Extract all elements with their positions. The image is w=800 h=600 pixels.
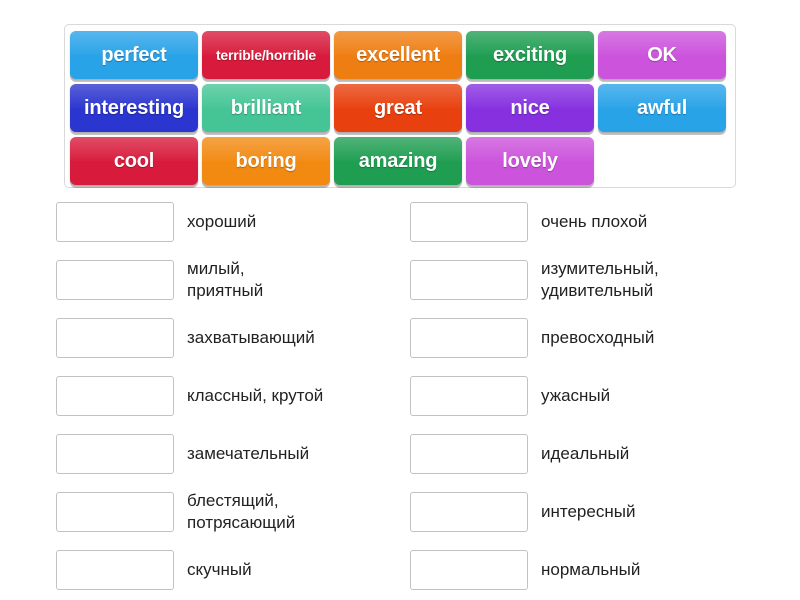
answer-drop-box[interactable] [56,376,174,416]
match-row: милый,приятный [56,256,411,304]
answer-drop-box[interactable] [410,376,528,416]
word-tile-label: cool [114,150,154,173]
word-tile-label: terrible/horrible [216,47,316,63]
answer-drop-box[interactable] [410,434,528,474]
empty-tile-slot [598,137,726,185]
translation-label: очень плохой [541,211,647,233]
answer-drop-box[interactable] [56,434,174,474]
word-tile[interactable]: terrible/horrible [202,31,330,79]
answer-drop-box[interactable] [56,492,174,532]
matching-area: хорошиймилый,приятныйзахватывающийклассн… [0,198,800,578]
word-tile-label: nice [510,97,549,120]
answer-drop-box[interactable] [410,550,528,590]
translation-label: скучный [187,559,252,581]
word-tile[interactable]: exciting [466,31,594,79]
match-row: идеальный [410,430,765,478]
word-tile-label: exciting [493,44,567,67]
answer-drop-box[interactable] [410,260,528,300]
match-row: скучный [56,546,411,594]
tile-row: perfectterrible/horribleexcellentexcitin… [70,31,730,83]
answer-drop-box[interactable] [56,318,174,358]
word-tile-label: brilliant [231,97,301,120]
word-tile[interactable]: cool [70,137,198,185]
word-tile[interactable]: excellent [334,31,462,79]
translation-label: классный, крутой [187,385,323,407]
word-tile[interactable]: brilliant [202,84,330,132]
tile-row: interestingbrilliantgreatniceawful [70,84,730,136]
word-tile[interactable]: great [334,84,462,132]
translation-label: нормальный [541,559,640,581]
match-row: изумительный,удивительный [410,256,765,304]
word-tile-label: interesting [84,97,184,120]
tile-bank: perfectterrible/horribleexcellentexcitin… [64,24,736,188]
word-tile[interactable]: lovely [466,137,594,185]
word-tile-label: perfect [101,44,166,67]
word-tile-label: boring [235,150,296,173]
translation-label: захватывающий [187,327,315,349]
word-tile-label: excellent [356,44,440,67]
answer-drop-box[interactable] [56,550,174,590]
match-row: интересный [410,488,765,536]
match-row: блестящий,потрясающий [56,488,411,536]
match-row: захватывающий [56,314,411,362]
word-tile-label: OK [647,44,677,67]
word-tile[interactable]: amazing [334,137,462,185]
matching-column-left: хорошиймилый,приятныйзахватывающийклассн… [56,198,411,600]
answer-drop-box[interactable] [410,318,528,358]
word-tile-label: awful [637,97,687,120]
translation-label: блестящий,потрясающий [187,490,295,534]
word-tile[interactable]: OK [598,31,726,79]
answer-drop-box[interactable] [56,260,174,300]
match-row: превосходный [410,314,765,362]
match-row: очень плохой [410,198,765,246]
translation-label: замечательный [187,443,309,465]
answer-drop-box[interactable] [56,202,174,242]
vocabulary-matching-activity: perfectterrible/horribleexcellentexcitin… [0,0,800,600]
word-tile[interactable]: nice [466,84,594,132]
translation-label: хороший [187,211,256,233]
word-tile-label: lovely [502,150,558,173]
match-row: замечательный [56,430,411,478]
tile-row: coolboringamazinglovely [70,137,730,189]
translation-label: превосходный [541,327,654,349]
match-row: ужасный [410,372,765,420]
word-tile[interactable]: perfect [70,31,198,79]
match-row: нормальный [410,546,765,594]
match-row: классный, крутой [56,372,411,420]
word-tile[interactable]: boring [202,137,330,185]
matching-column-right: очень плохойизумительный,удивительныйпре… [410,198,765,600]
answer-drop-box[interactable] [410,202,528,242]
translation-label: милый,приятный [187,258,263,302]
word-tile[interactable]: interesting [70,84,198,132]
word-tile-label: great [374,97,422,120]
translation-label: ужасный [541,385,610,407]
translation-label: изумительный,удивительный [541,258,659,302]
translation-label: интересный [541,501,635,523]
match-row: хороший [56,198,411,246]
word-tile-label: amazing [359,150,438,173]
translation-label: идеальный [541,443,629,465]
answer-drop-box[interactable] [410,492,528,532]
word-tile[interactable]: awful [598,84,726,132]
